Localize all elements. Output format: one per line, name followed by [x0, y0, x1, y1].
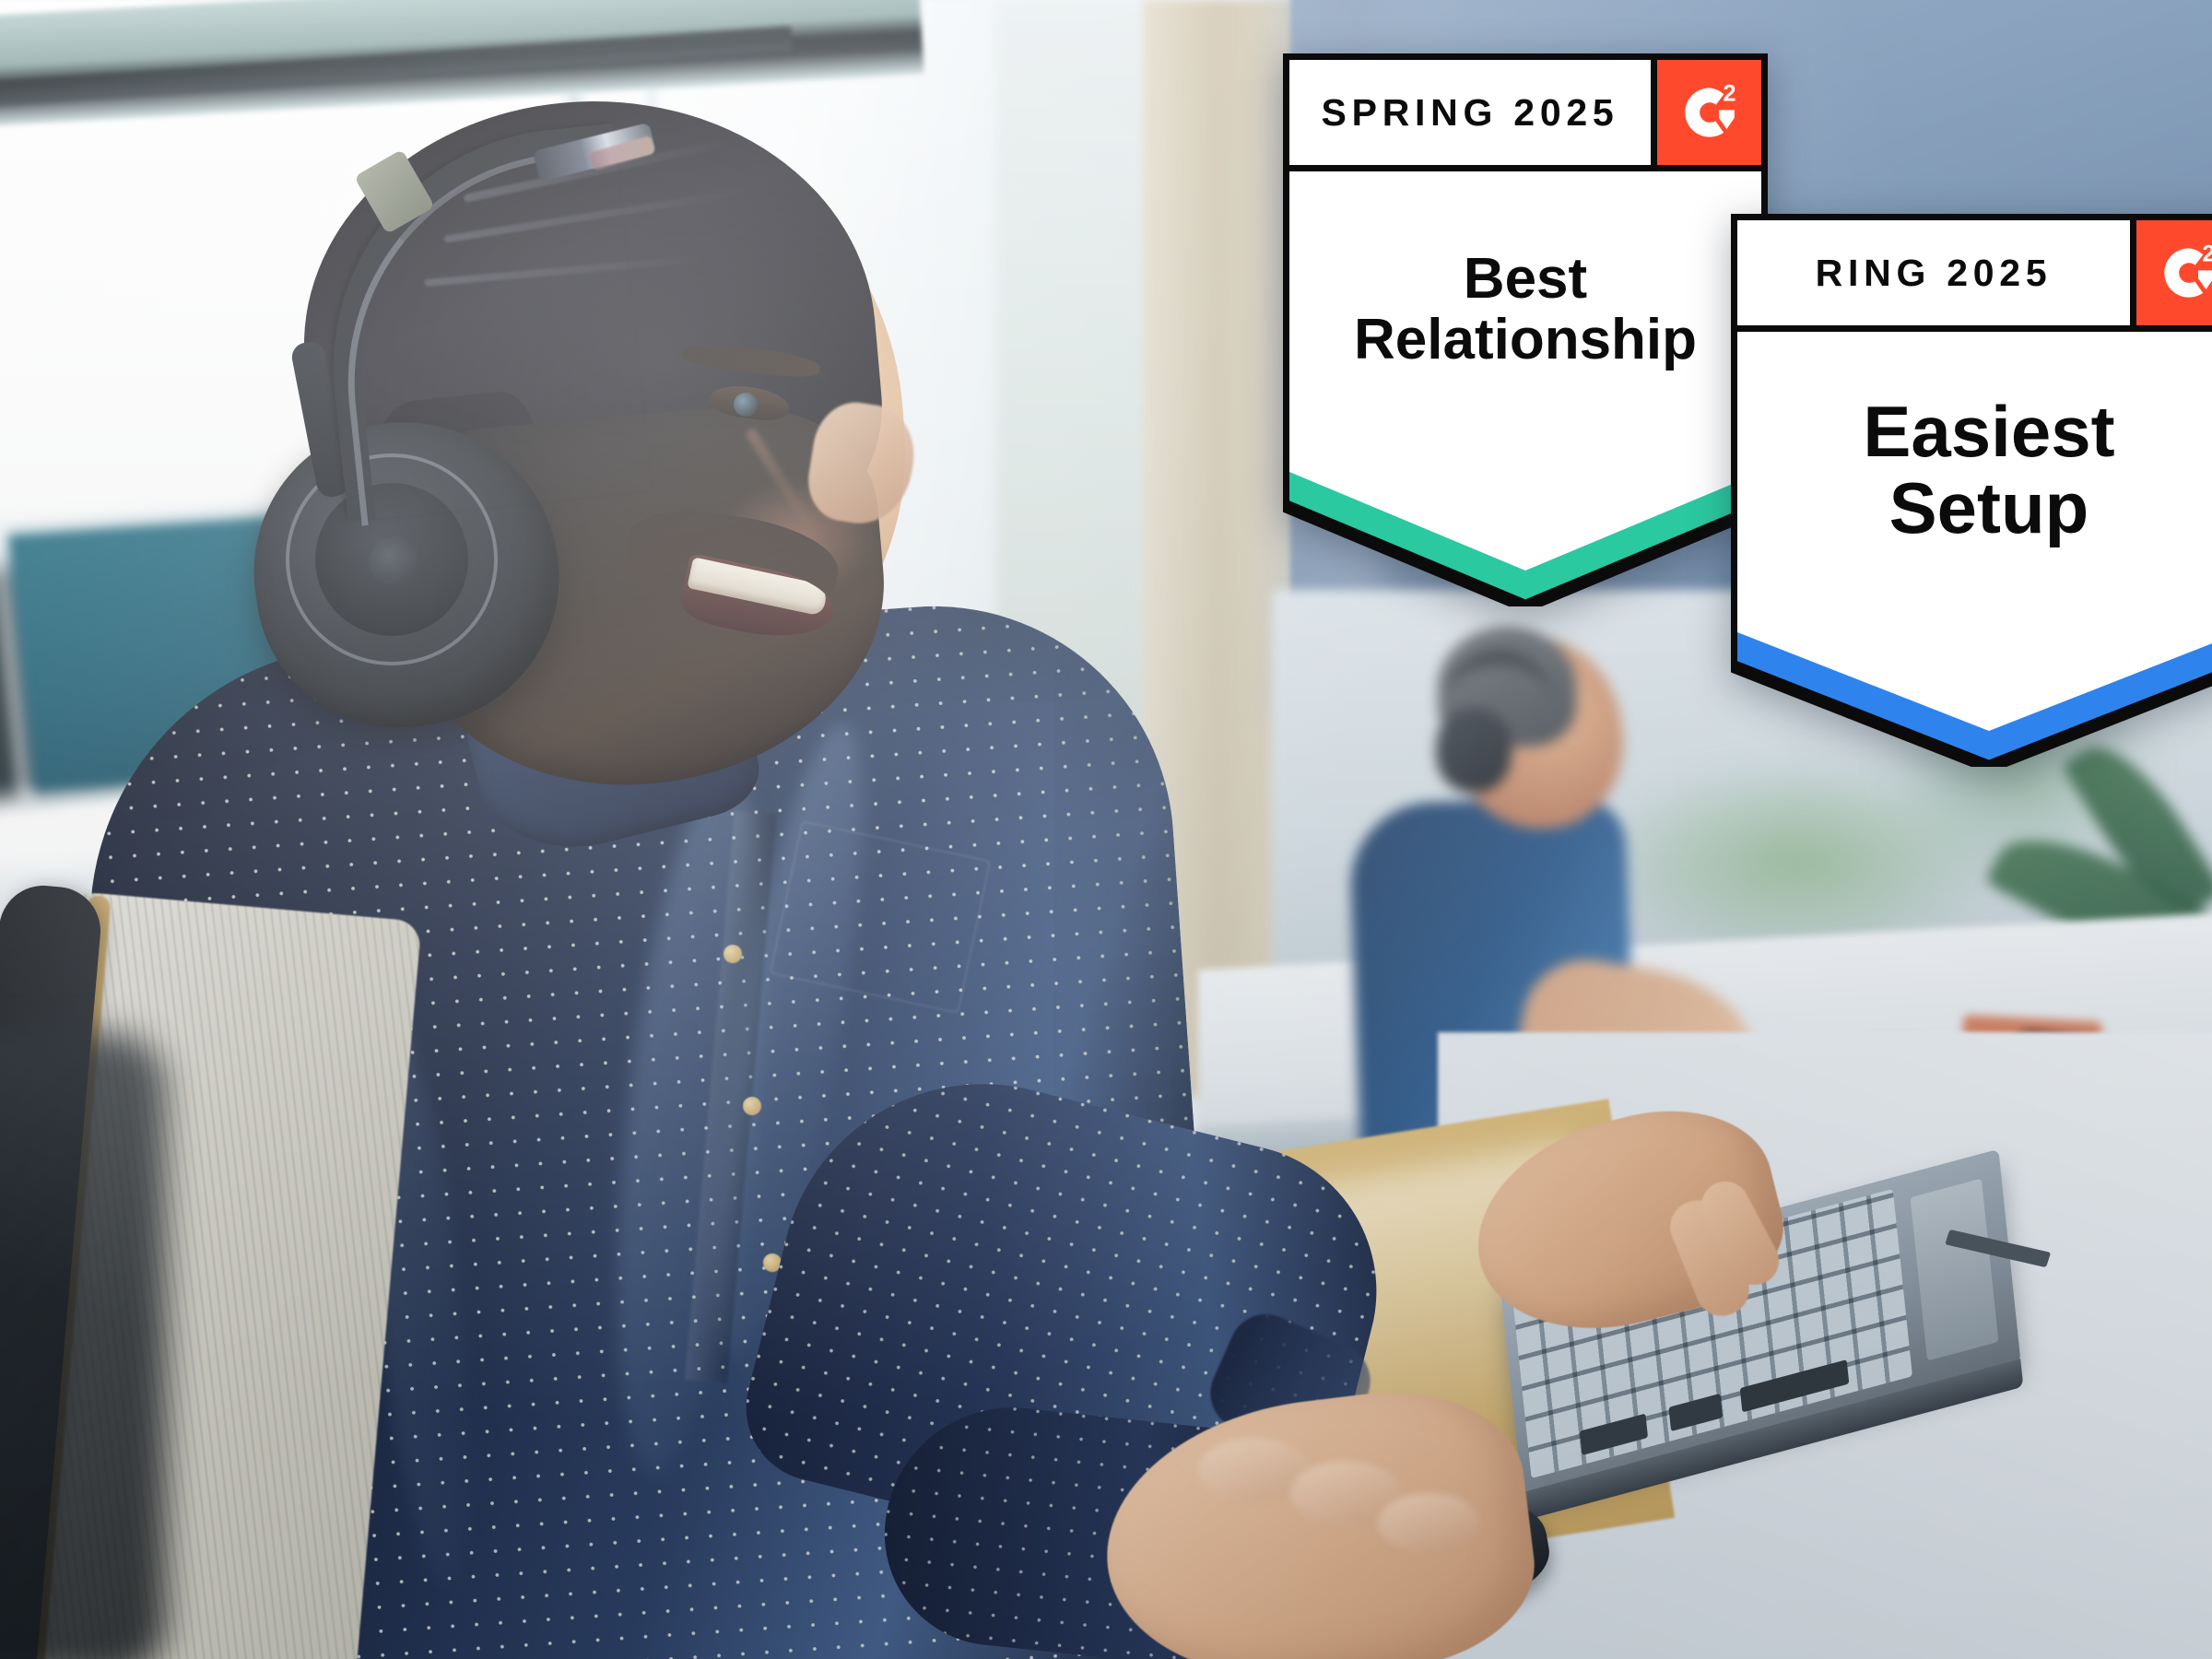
g2-badge-best-relationship: SPRING 2025 2 Best Relationship	[1283, 53, 1768, 606]
badge-body: Easiest Setup	[1731, 332, 2212, 608]
g2-logo-icon: 2	[2130, 220, 2212, 325]
badge-header: RING 2025 2	[1731, 214, 2212, 332]
headphone-earcup-button	[369, 536, 418, 586]
badge-title: Best Relationship	[1289, 249, 1761, 370]
badge-season: RING 2025	[1737, 220, 2130, 325]
badge-title: Easiest Setup	[1737, 394, 2212, 546]
badge-season-label: SPRING 2025	[1322, 91, 1619, 135]
badge-season-label: RING 2025	[1816, 252, 2053, 295]
colleague-headset-earcup	[1436, 708, 1512, 793]
g2-logo-icon: 2	[1651, 60, 1761, 165]
badge-season: SPRING 2025	[1289, 60, 1651, 165]
badge-chevron-tail	[1283, 448, 1768, 606]
screenshot-canvas: SPRING 2025 2 Best Relationship R	[0, 0, 2212, 1659]
chair-foreground-blur	[0, 1032, 166, 1659]
agent-iris	[734, 393, 758, 417]
badge-chevron-tail	[1731, 608, 2212, 767]
hand-knuckle	[1378, 1493, 1479, 1552]
svg-text:2: 2	[1723, 80, 1735, 106]
shirt-button	[743, 1097, 761, 1115]
badge-body: Best Relationship	[1283, 171, 1768, 448]
g2-badge-easiest-setup: RING 2025 2 Easiest Setup	[1731, 214, 2212, 767]
shirt-button	[724, 945, 742, 963]
svg-text:2: 2	[2202, 241, 2212, 266]
badge-header: SPRING 2025 2	[1283, 53, 1768, 171]
